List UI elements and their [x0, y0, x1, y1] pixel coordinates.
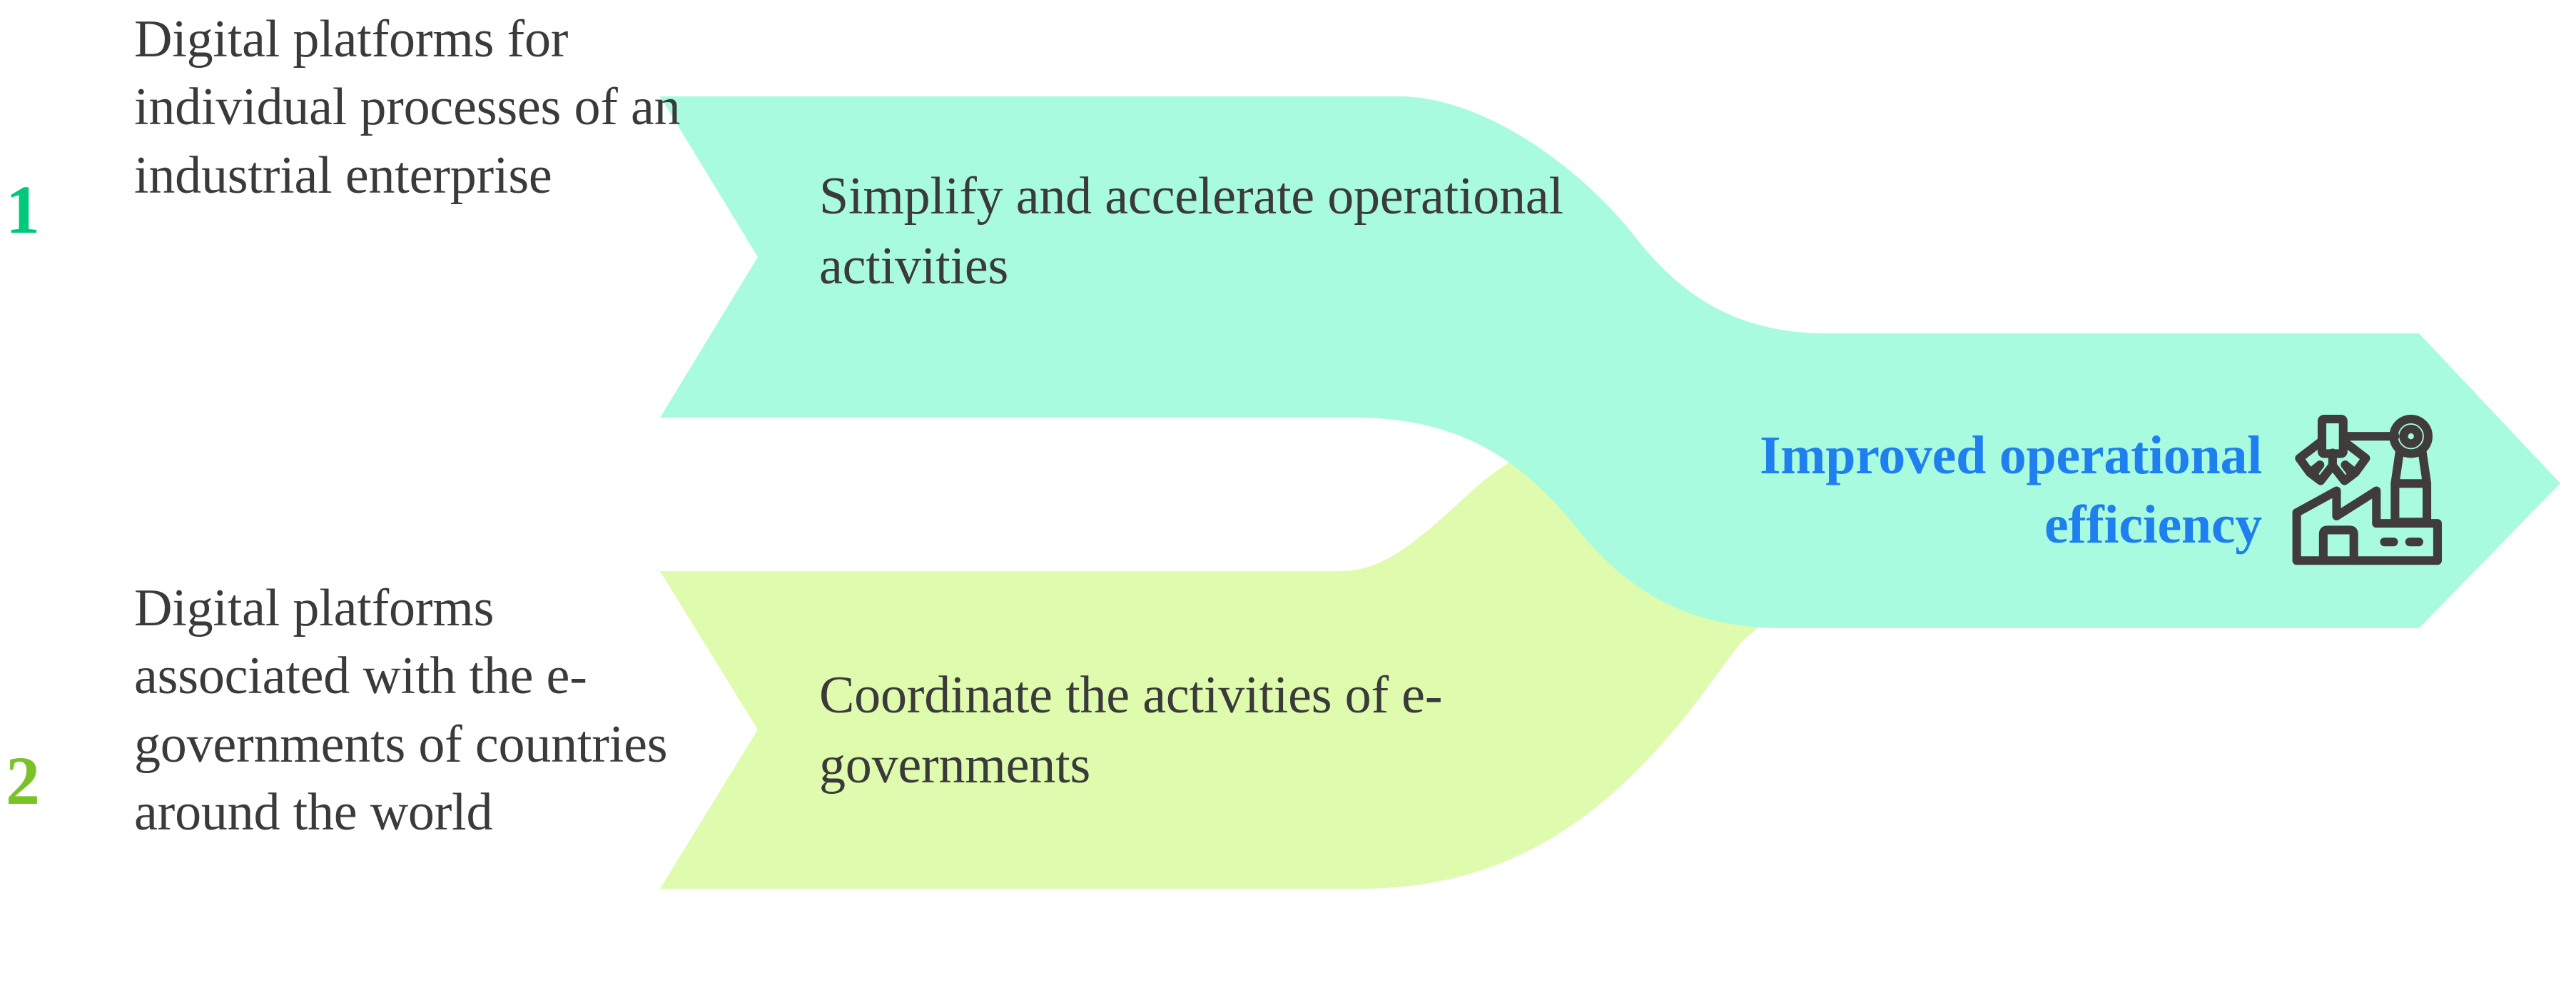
step-number-2: 2 [6, 747, 40, 815]
robot-tower-lower [2395, 483, 2427, 522]
gripper-finger-right-inner [2333, 465, 2353, 480]
factory-roof [2297, 491, 2377, 524]
robot-arm-pivot-inner [2403, 429, 2418, 443]
band-caption-1: Simplify and accelerate operational acti… [819, 161, 1675, 302]
factory-robot-arm-glyph [2283, 400, 2456, 573]
diagram-canvas: 1 Digital platforms for individual proce… [0, 0, 2576, 983]
factory-door [2323, 530, 2354, 560]
factory-robot-arm-icon [2283, 400, 2456, 573]
step-label-1: Digital platforms for individual process… [134, 6, 684, 210]
outcome-label: Improved operational efficiency [1641, 421, 2262, 560]
step-label-2: Digital platforms associated with the e-… [134, 575, 698, 847]
band-caption-2: Coordinate the activities of e-governmen… [819, 660, 1711, 801]
step-number-1: 1 [6, 176, 40, 244]
